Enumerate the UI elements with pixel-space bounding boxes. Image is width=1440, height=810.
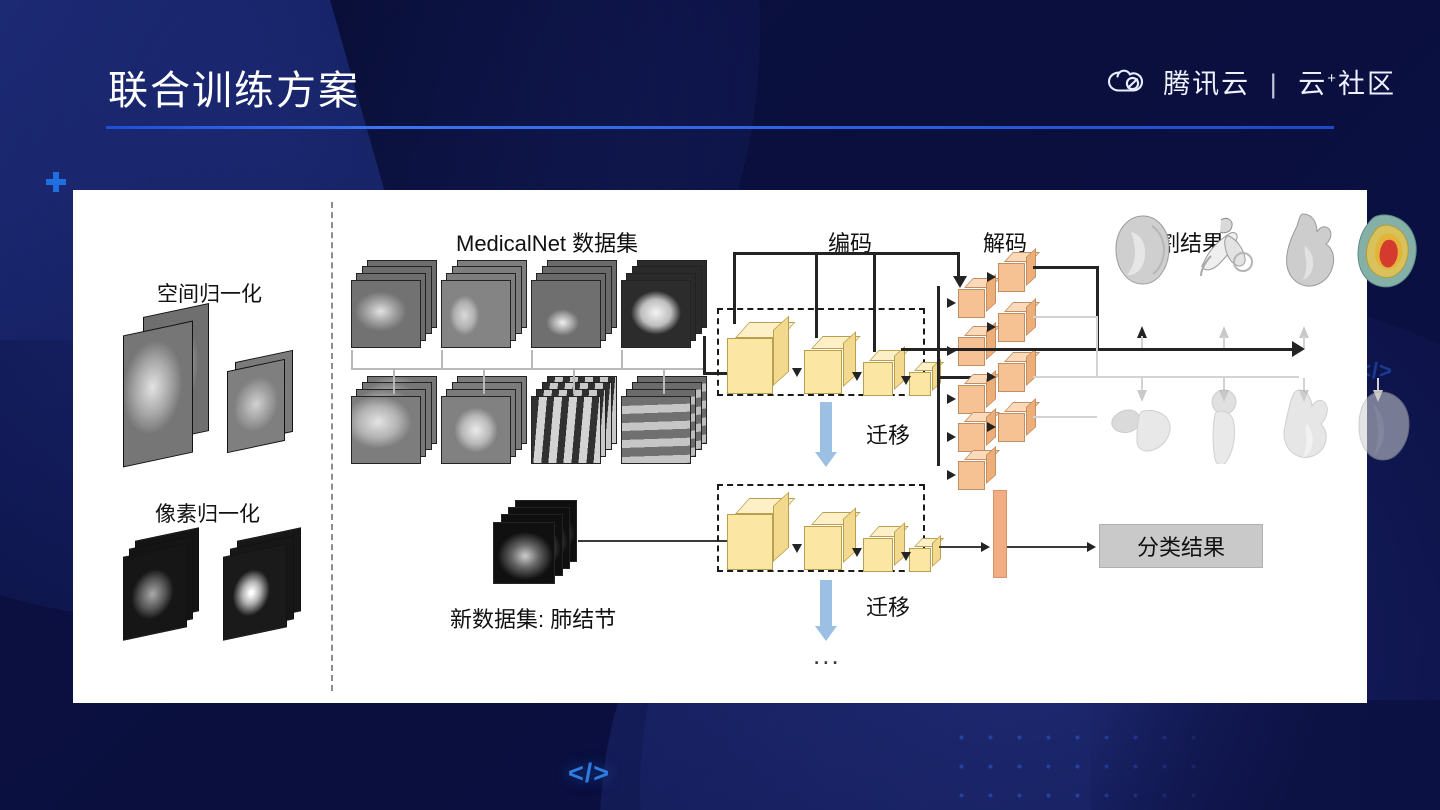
decoder-cube-l2: [958, 326, 996, 366]
brain-mri-stack: [621, 260, 709, 352]
organ-render-4-colored: [1353, 210, 1423, 290]
encoder-link-3: [901, 376, 911, 385]
seg-bus-dark-up: [1033, 266, 1099, 269]
decoder-feed-v: [937, 286, 940, 466]
brand-name: 腾讯云: [1163, 69, 1250, 99]
decoder-out-arrow-3: [987, 372, 996, 382]
transfer-label-lower: 迁移: [866, 590, 910, 622]
seg-bus-light-main2: [1033, 416, 1097, 418]
brand-separator: |: [1270, 69, 1279, 99]
brand-text-group: 腾讯云 | 云+社区: [1163, 62, 1396, 101]
decoder-out-arrow-2: [987, 322, 996, 332]
chest-ct-stack: [621, 376, 709, 468]
decoder-out-arrow-1: [987, 272, 996, 282]
seg-bus-light-v: [1096, 316, 1098, 376]
encoder-lower-stage-4: [909, 538, 941, 572]
organ-render-1: [1109, 212, 1175, 288]
dataset-label: MedicalNet 数据集: [456, 226, 638, 258]
dot-grid-fade: [1090, 700, 1440, 810]
decoder-in-arrow-5: [947, 470, 956, 480]
classification-result-label: 分类结果: [1137, 530, 1225, 562]
dataset-drop-2: [483, 368, 485, 394]
encoder-lower-to-classifier: [939, 546, 985, 548]
encoder-lower-stage-3: [863, 526, 905, 572]
decoder-cube-r4: [998, 402, 1036, 442]
dataset-drop-4: [663, 368, 665, 394]
code-glyph-bottom-icon: </>: [568, 758, 610, 789]
decoder-cube-r1: [998, 252, 1036, 292]
dataset-to-encoder-v: [703, 336, 706, 374]
skip-bus-top: [733, 252, 959, 255]
kidney-ct-stack: [441, 376, 529, 468]
seg-down-arrow-1: [1137, 390, 1147, 402]
spine-ct-stack: [531, 376, 619, 468]
organ-render-7: [1277, 386, 1339, 464]
organ-render-2: [1191, 212, 1261, 288]
seg-bus-light-h: [1033, 316, 1097, 318]
spatial-normalization-label: 空间归一化: [157, 278, 262, 308]
skip-branch-2: [815, 252, 818, 338]
dataset-tick-1: [351, 350, 353, 370]
seg-up-stem-3: [1303, 336, 1305, 348]
content-panel: 空间归一化 像素归一化 MedicalNet 数据集 编码 解码 分割结果: [73, 190, 1367, 703]
breast-mri-stack: [441, 260, 529, 352]
dataset-drop-3: [573, 368, 575, 394]
decoder-cube-l5: [958, 450, 996, 490]
classifier-in-arrow: [981, 542, 990, 552]
organ-render-3: [1273, 210, 1339, 290]
organ-render-5: [1107, 402, 1177, 458]
decoder-in-arrow-4: [947, 432, 956, 442]
brand-community-prefix: 云: [1298, 69, 1327, 99]
classifier-bar: [993, 490, 1007, 578]
encoder-stage-2: [804, 336, 856, 394]
seg-bus-light-main: [1033, 376, 1299, 378]
pelvis-mri-stack: [351, 260, 439, 352]
pixel-slice-original: [121, 538, 216, 653]
classification-result-box: 分类结果: [1099, 524, 1263, 568]
encoder-lower-stage-1: [727, 498, 789, 570]
lung-nodule-ct-stack: [493, 500, 591, 588]
brand-community-sup: +: [1327, 70, 1338, 87]
dataset-tick-2: [441, 350, 443, 370]
encoder-lower-stage-2: [804, 512, 856, 570]
seg-bus-dark-main: [901, 348, 1296, 351]
decoder-cube-r2: [998, 302, 1036, 342]
transfer-arrow-upper: [815, 402, 837, 468]
dataset-collector-h: [351, 368, 703, 370]
decoder-in-arrow-1: [947, 298, 956, 308]
transfer-arrow-lower: [815, 580, 837, 642]
decoder-out-arrow-4: [987, 422, 996, 432]
cardiac-mri-stack: [531, 260, 619, 352]
spatial-slice-resampled: [225, 356, 301, 460]
liver-ct-stack: [351, 376, 439, 468]
skip-branch-3: [873, 252, 876, 352]
skip-branch-1: [733, 252, 736, 324]
encoder-link-1: [792, 368, 802, 377]
page-title: 联合训练方案: [108, 58, 360, 116]
dataset-tick-4: [621, 350, 623, 370]
encoder-link-2: [852, 372, 862, 381]
brand-lockup: 腾讯云 | 云+社区: [1106, 62, 1396, 101]
transfer-label-upper: 迁移: [866, 418, 910, 450]
tencent-cloud-logo-icon: [1106, 67, 1152, 97]
header-divider: [106, 126, 1334, 129]
spatial-slice-original: [121, 318, 216, 458]
brand-community-suffix: 社区: [1338, 69, 1396, 99]
encoder-stage-3: [863, 350, 905, 396]
new-dataset-label: 新数据集: 肺结节: [450, 602, 616, 634]
decoder-cube-l1: [958, 278, 996, 318]
decoder-in-arrow-3: [947, 394, 956, 404]
seg-up-stem-1: [1141, 336, 1143, 348]
decoder-cube-r3: [998, 352, 1036, 392]
pixel-slice-normalized: [221, 538, 321, 653]
encoder-stage-1: [727, 322, 789, 394]
classifier-to-result: [1007, 546, 1091, 548]
encoder-lower-link-2: [852, 548, 862, 557]
panel-vertical-divider: [331, 202, 333, 691]
pixel-normalization-label: 像素归一化: [155, 498, 260, 528]
organ-render-8: [1355, 388, 1415, 464]
dataset-drop-1: [393, 368, 395, 394]
organ-render-6: [1197, 388, 1249, 464]
dataset-tick-3: [531, 350, 533, 370]
decoder-cube-l4: [958, 412, 996, 452]
encoder-lower-link-3: [901, 552, 911, 561]
encoder-lower-link-1: [792, 544, 802, 553]
continuation-ellipsis: ...: [813, 642, 841, 668]
plus-mark-icon: [46, 172, 66, 192]
seg-down-stem-1: [1141, 378, 1143, 390]
result-arrow: [1087, 542, 1096, 552]
seg-up-stem-2: [1223, 336, 1225, 348]
